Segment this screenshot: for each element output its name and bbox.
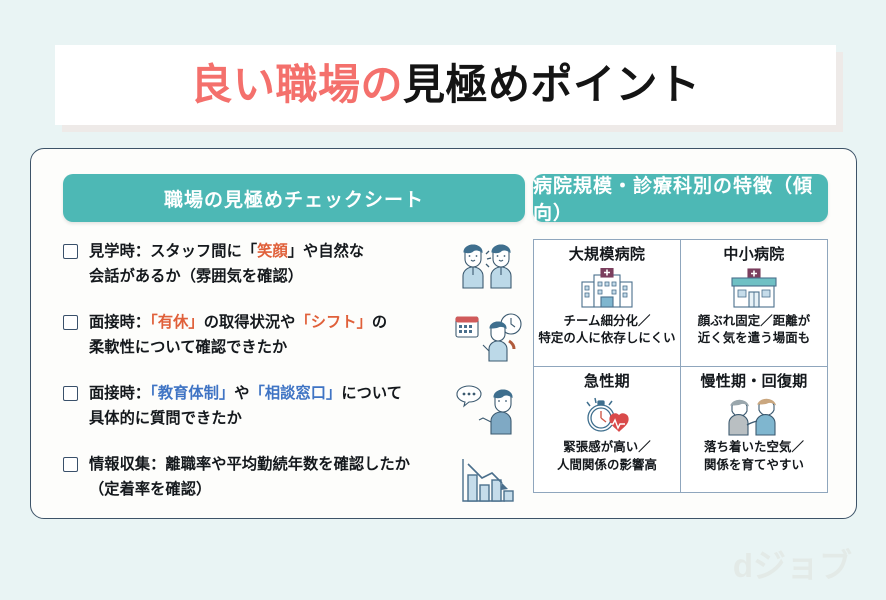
large-hospital-icon — [538, 267, 676, 311]
cell-title: 大規模病院 — [538, 247, 676, 264]
page-title-accent: 良い職場の — [190, 61, 403, 108]
cell-title: 急性期 — [538, 374, 676, 391]
page-title: 良い職場の見極めポイント — [190, 64, 700, 106]
checklist: 見学時：スタッフ間に「笑顔」や自然な 会話があるか（雰囲気を確認） — [63, 240, 525, 511]
checkbox-4[interactable] — [63, 457, 78, 472]
list-item-1-line1: 見学時：スタッフ間に「笑顔」や自然な — [89, 243, 364, 260]
cell-desc: 顔ぶれ固定／距離が 近く気を遣う場面も — [685, 313, 823, 349]
checkbox-3[interactable] — [63, 386, 78, 401]
list-item-text: 情報収集：離職率や平均勤続年数を確認したか （定着率を確認） — [89, 453, 449, 502]
list-item[interactable]: 面接時：「教育体制」や「相談窓口」について 具体的に質問できたか — [63, 382, 525, 440]
list-item-2-line2: 柔軟性について確認できたか — [89, 339, 287, 356]
cell-title: 慢性期・回復期 — [685, 374, 823, 391]
caregiver-elderly-icon — [685, 393, 823, 437]
list-item-text: 面接時：「有休」の取得状況や「シフト」の 柔軟性について確認できたか — [89, 311, 449, 360]
cell-desc-line2: 人間関係の影響高 — [557, 458, 657, 472]
cell-desc: 緊張感が高い／ 人間関係の影響高 — [538, 439, 676, 475]
slide-root: 良い職場の見極めポイント 職場の見極めチェックシート 見学時：スタッフ間に「笑顔… — [0, 0, 886, 600]
list-item-1-line2: 会話があるか（雰囲気を確認） — [89, 268, 303, 285]
table-cell-large-hospital: 大規模病院 — [534, 240, 681, 367]
list-item-2-line1: 面接時：「有休」の取得状況や「シフト」の — [89, 314, 387, 331]
checkbox-2[interactable] — [63, 315, 78, 330]
list-item-3-line2: 具体的に質問できたか — [89, 410, 242, 427]
list-item-3-line1: 面接時：「教育体制」や「相談窓口」について — [89, 385, 402, 402]
stopwatch-heart-icon — [538, 393, 676, 437]
nurse-speech-bubble-icon — [453, 382, 525, 438]
content-card: 職場の見極めチェックシート 見学時：スタッフ間に「笑顔」や自然な 会話があるか（… — [30, 148, 857, 519]
checklist-heading: 職場の見極めチェックシート — [63, 174, 525, 222]
brand-logo: dジョブ — [733, 549, 852, 582]
declining-bar-chart-icon — [453, 453, 525, 509]
cell-desc: チーム細分化／ 特定の人に依存しにくい — [538, 313, 676, 349]
page-title-main: 見極めポイント — [403, 61, 701, 108]
list-item[interactable]: 見学時：スタッフ間に「笑顔」や自然な 会話があるか（雰囲気を確認） — [63, 240, 525, 298]
two-nurses-talking-icon — [453, 240, 525, 296]
cell-desc-line1: チーム細分化／ — [563, 314, 650, 328]
list-item[interactable]: 面接時：「有休」の取得状況や「シフト」の 柔軟性について確認できたか — [63, 311, 525, 369]
cell-desc-line1: 緊張感が高い／ — [563, 440, 650, 454]
small-clinic-icon — [685, 267, 823, 311]
table-cell-small-clinic: 中小病院 — [681, 240, 828, 367]
nurse-calendar-clock-icon — [453, 311, 525, 367]
hospital-types-table: 大規模病院 — [533, 239, 828, 493]
checklist-panel: 職場の見極めチェックシート 見学時：スタッフ間に「笑顔」や自然な 会話があるか（… — [63, 174, 525, 494]
cell-title: 中小病院 — [685, 247, 823, 264]
cell-desc-line1: 落ち着いた空気／ — [704, 440, 804, 454]
table-row: 急性期 — [534, 366, 828, 493]
cell-desc-line2: 関係を育てやすい — [704, 458, 804, 472]
list-item-4-line2: （定着率を確認） — [89, 481, 211, 498]
hospital-types-heading: 病院規模・診療科別の特徴（傾向） — [533, 174, 828, 222]
hospital-types-panel: 病院規模・診療科別の特徴（傾向） 大規模病院 — [533, 174, 828, 494]
table-cell-chronic-recovery: 慢性期・回復期 — [681, 366, 828, 493]
cell-desc-line2: 近く気を遣う場面も — [698, 331, 810, 345]
cell-desc: 落ち着いた空気／ 関係を育てやすい — [685, 439, 823, 475]
title-banner: 良い職場の見極めポイント — [55, 45, 836, 125]
list-item-4-line1: 情報収集：離職率や平均勤続年数を確認したか — [89, 456, 410, 473]
list-item-text: 面接時：「教育体制」や「相談窓口」について 具体的に質問できたか — [89, 382, 449, 431]
table-cell-acute-phase: 急性期 — [534, 366, 681, 493]
table-row: 大規模病院 — [534, 240, 828, 367]
checkbox-1[interactable] — [63, 244, 78, 259]
list-item[interactable]: 情報収集：離職率や平均勤続年数を確認したか （定着率を確認） — [63, 453, 525, 511]
cell-desc-line2: 特定の人に依存しにくい — [538, 331, 675, 345]
cell-desc-line1: 顔ぶれ固定／距離が — [698, 314, 810, 328]
list-item-text: 見学時：スタッフ間に「笑顔」や自然な 会話があるか（雰囲気を確認） — [89, 240, 449, 289]
